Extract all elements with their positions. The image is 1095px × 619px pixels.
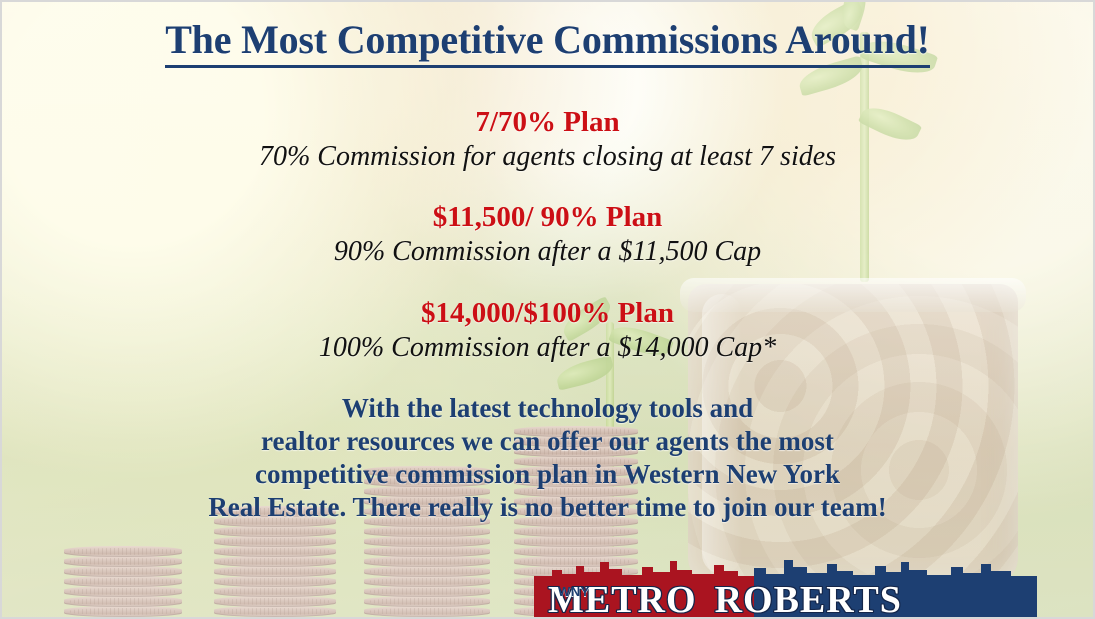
page-title-text: The Most Competitive Commissions Around! <box>165 17 930 68</box>
plan-title: 7/70% Plan <box>2 107 1093 137</box>
plan-subtitle: 70% Commission for agents closing at lea… <box>2 141 1093 173</box>
logo-badge-wny: WNY <box>558 584 590 599</box>
commission-promo-slide: The Most Competitive Commissions Around!… <box>0 0 1095 619</box>
pitch-line: realtor resources we can offer our agent… <box>2 425 1093 458</box>
plan-block-3: $14,000/$100% Plan 100% Commission after… <box>2 298 1093 365</box>
plan-subtitle: 90% Commission after a $11,500 Cap <box>2 236 1093 268</box>
logo-word-roberts: ROBERTS <box>715 578 902 619</box>
pitch-paragraph: With the latest technology tools and rea… <box>2 392 1093 524</box>
plan-subtitle: 100% Commission after a $14,000 Cap* <box>2 332 1093 364</box>
page-title: The Most Competitive Commissions Around! <box>2 16 1093 63</box>
plan-title: $11,500/ 90% Plan <box>2 202 1093 232</box>
wny-metro-roberts-logo[interactable]: METRO ROBERTS WNY <box>534 558 1037 619</box>
plan-block-1: 7/70% Plan 70% Commission for agents clo… <box>2 107 1093 174</box>
plan-block-2: $11,500/ 90% Plan 90% Commission after a… <box>2 202 1093 269</box>
pitch-line: Real Estate. There really is no better t… <box>2 491 1093 524</box>
pitch-line: competitive commission plan in Western N… <box>2 458 1093 491</box>
plan-title: $14,000/$100% Plan <box>2 298 1093 328</box>
pitch-line: With the latest technology tools and <box>2 392 1093 425</box>
logo-wordmark: METRO ROBERTS <box>534 578 1037 619</box>
